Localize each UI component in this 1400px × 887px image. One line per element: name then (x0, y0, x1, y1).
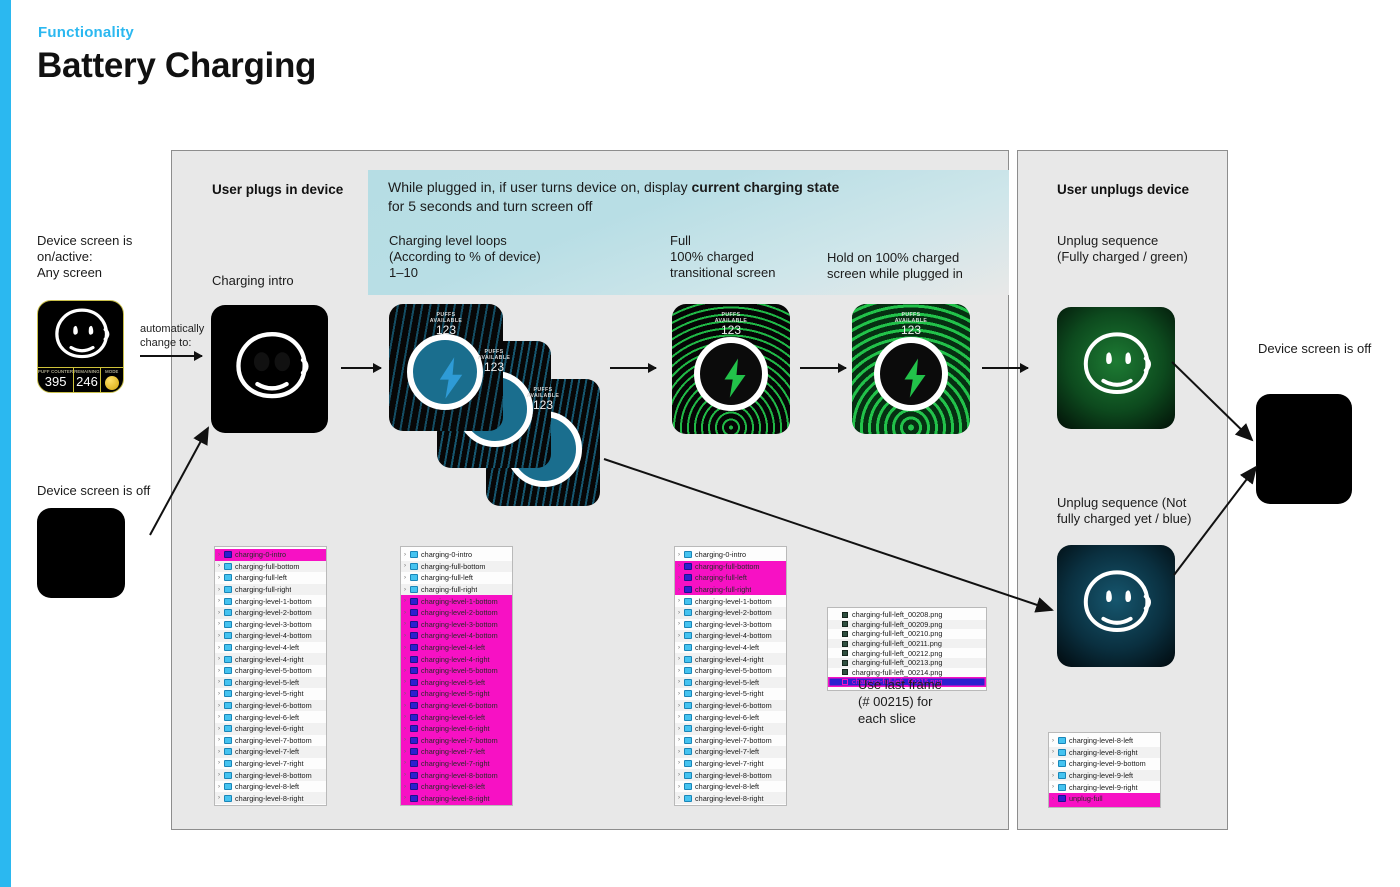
folder-icon (1058, 772, 1066, 779)
list-item[interactable]: ›charging-level-6-left (215, 711, 326, 723)
device-hold-charged: PUFFS AVAILABLE 123 (852, 304, 970, 434)
folder-icon (224, 783, 232, 790)
list-item[interactable]: ›charging-level-4-bottom (401, 630, 512, 642)
list-item[interactable]: ›charging-full-bottom (215, 561, 326, 573)
list-item-label: charging-level-7-left (235, 747, 299, 756)
folder-icon (410, 690, 418, 697)
list-item-label: charging-level-2-bottom (421, 608, 498, 617)
device-face-icon (49, 305, 115, 363)
list-item-label: charging-full-left (695, 573, 747, 582)
label-unplug-green: Unplug sequence (Fully charged / green) (1057, 233, 1188, 265)
folder-icon (224, 714, 232, 721)
puffs-available-label: PUFFS AVAILABLE 123 (672, 312, 790, 337)
list-item[interactable]: ›charging-level-3-bottom (215, 619, 326, 631)
list-item[interactable]: ›charging-level-7-bottom (215, 735, 326, 747)
folder-icon (684, 795, 692, 802)
list-item[interactable]: ›charging-level-8-left (215, 781, 326, 793)
list-item-label: charging-level-9-right (1069, 783, 1138, 792)
list-item[interactable]: ›charging-level-8-bottom (215, 769, 326, 781)
folder-icon (224, 690, 232, 697)
list-item[interactable]: ›charging-level-8-left (401, 781, 512, 793)
list-item-label: charging-level-8-left (421, 782, 485, 791)
list-item-label: charging-level-8-bottom (235, 771, 312, 780)
image-file-icon (842, 641, 848, 647)
device-unplug-blue (1057, 545, 1175, 667)
folder-icon (224, 621, 232, 628)
folder-icon (684, 737, 692, 744)
list-item-label: charging-level-5-right (695, 689, 764, 698)
list-item-label: charging-full-right (695, 585, 751, 594)
folder-icon (224, 574, 232, 581)
list-item-label: charging-level-8-left (695, 782, 759, 791)
folder-icon (1058, 749, 1066, 756)
device-full-transitional: PUFFS AVAILABLE 123 (672, 304, 790, 434)
list-item[interactable]: ›charging-level-6-right (401, 723, 512, 735)
folder-icon (224, 795, 232, 802)
list-item[interactable]: charging-full-left_00209.png (828, 620, 986, 630)
list-item-label: charging-level-3-bottom (695, 620, 772, 629)
list-item[interactable]: ›charging-level-7-bottom (401, 735, 512, 747)
list-item[interactable]: ›charging-level-5-bottom (675, 665, 786, 677)
list-item-label: charging-level-5-left (695, 678, 759, 687)
list-item[interactable]: ›charging-level-8-bottom (675, 769, 786, 781)
list-item[interactable]: ›charging-level-1-bottom (675, 595, 786, 607)
list-item[interactable]: charging-full-left_00213.png (828, 658, 986, 668)
list-item[interactable]: ›charging-level-4-left (215, 642, 326, 654)
folder-icon (410, 621, 418, 628)
folder-icon (684, 667, 692, 674)
list-item[interactable]: ›charging-level-5-left (215, 677, 326, 689)
list-item[interactable]: ›charging-full-left (215, 572, 326, 584)
list-item-label: charging-0-intro (695, 550, 746, 559)
list-item-label: charging-level-7-left (421, 747, 485, 756)
list-item-label: charging-level-4-right (695, 655, 764, 664)
list-item-label: charging-level-2-bottom (235, 608, 312, 617)
list-item[interactable]: ›charging-level-7-right (675, 758, 786, 770)
list-item-label: charging-level-5-bottom (421, 666, 498, 675)
folder-icon (684, 551, 692, 558)
folder-icon (684, 760, 692, 767)
list-item[interactable]: ›charging-level-4-left (401, 642, 512, 654)
arrow-hold-to-unplug (982, 367, 1028, 369)
arrow-active-to-intro (140, 355, 202, 357)
list-item-label: charging-level-4-bottom (235, 631, 312, 640)
list-item[interactable]: ›charging-level-9-bottom (675, 804, 786, 806)
list-item-label: charging-level-7-left (695, 747, 759, 756)
device-face-icon (1077, 325, 1157, 403)
folder-icon (224, 644, 232, 651)
disclosure-triangle-icon[interactable]: › (404, 805, 410, 806)
list-item[interactable]: ›charging-level-6-bottom (401, 700, 512, 712)
folder-icon (410, 667, 418, 674)
page-title: Battery Charging (37, 46, 316, 86)
folder-icon (224, 598, 232, 605)
puffs-available-label: PUFFS AVAILABLE 123 (437, 349, 551, 374)
list-item[interactable]: ›charging-level-5-bottom (401, 665, 512, 677)
list-item[interactable]: ›charging-level-8-right (215, 792, 326, 804)
device-stat-bar: PUFF COUNTER 395 REMAINING 246 MODE (38, 367, 123, 392)
lightning-bolt-icon (720, 355, 750, 401)
folder-icon (1058, 784, 1066, 791)
list-item[interactable]: ›charging-level-5-right (215, 688, 326, 700)
folder-icon (684, 725, 692, 732)
folder-icon (410, 679, 418, 686)
image-file-icon (842, 669, 848, 675)
list-item[interactable]: ›unplug-full (1049, 793, 1160, 805)
label-screen-off-right: Device screen is off (1258, 341, 1371, 357)
list-item-label: charging-level-9-left (1069, 771, 1133, 780)
note-screen-on-active: Device screen is on/active: Any screen (37, 233, 167, 281)
list-item-label: charging-0-intro (421, 550, 472, 559)
puffs-available-label: PUFFS AVAILABLE 123 (852, 312, 970, 337)
folder-icon (224, 586, 232, 593)
list-item-label: charging-level-7-right (695, 759, 764, 768)
stat-remaining: REMAINING 246 (74, 368, 101, 392)
list-item[interactable]: ›charging-level-6-right (675, 723, 786, 735)
folder-icon (410, 644, 418, 651)
head-user-unplugs: User unplugs device (1057, 182, 1189, 197)
list-item[interactable]: ›charging-full-left (675, 572, 786, 584)
list-item-label: charging-full-left (421, 573, 473, 582)
list-item[interactable]: ›charging-level-8-left (1049, 735, 1160, 747)
folder-icon (684, 586, 692, 593)
list-item-label: charging-level-3-bottom (235, 620, 312, 629)
folder-icon (684, 574, 692, 581)
list-item-label: charging-level-9-bottom (695, 805, 772, 806)
list-item[interactable]: ›charging-full-right (675, 584, 786, 596)
folder-icon (684, 609, 692, 616)
list-item[interactable]: ›charging-full-right (401, 584, 512, 596)
list-item-label: charging-level-4-left (421, 643, 485, 652)
folder-icon (224, 656, 232, 663)
list-item[interactable]: ›charging-level-1-bottom (401, 595, 512, 607)
list-item-label: charging-level-7-bottom (695, 736, 772, 745)
folder-icon (224, 702, 232, 709)
list-item-label: charging-level-5-bottom (235, 666, 312, 675)
list-item-label: charging-level-4-bottom (421, 631, 498, 640)
folder-icon (224, 679, 232, 686)
banner-text: While plugged in, if user turns device o… (388, 178, 908, 216)
device-unplug-green (1057, 307, 1175, 429)
list-item-label: unplug-notfull (1069, 806, 1113, 808)
list-item-label: charging-level-4-bottom (695, 631, 772, 640)
list-item-label: charging-full-left_00211.png (852, 639, 942, 648)
list-item-label: charging-full-bottom (421, 562, 486, 571)
list-item[interactable]: ›charging-level-5-right (675, 688, 786, 700)
folder-icon (1058, 807, 1066, 808)
list-item[interactable]: ›charging-level-4-bottom (215, 630, 326, 642)
list-item-label: charging-level-1-bottom (421, 597, 498, 606)
list-item-label: charging-level-6-bottom (421, 701, 498, 710)
note-use-last-frame: Use last frame (# 00215) for each slice (858, 676, 942, 727)
list-item-label: charging-level-6-left (421, 713, 485, 722)
list-item-label: charging-level-5-left (421, 678, 485, 687)
charge-ring (694, 337, 768, 411)
list-item-label: charging-level-6-right (695, 724, 764, 733)
list-item[interactable]: ›unplug-notfull (1049, 805, 1160, 808)
label-charging-level-loops: Charging level loops (According to % of … (389, 233, 541, 281)
list-item-label: charging-level-9-bottom (235, 805, 312, 806)
list-item-label: charging-level-1-bottom (695, 597, 772, 606)
list-item-label: charging-level-6-left (695, 713, 759, 722)
label-charging-intro: Charging intro (212, 273, 294, 289)
list-item[interactable]: ›charging-level-6-left (675, 711, 786, 723)
folder-icon (684, 772, 692, 779)
list-item[interactable]: ›charging-level-3-bottom (401, 619, 512, 631)
list-item[interactable]: charging-full-left_00210.png (828, 629, 986, 639)
list-item[interactable]: ›charging-level-7-right (401, 758, 512, 770)
folder-icon (410, 609, 418, 616)
list-item-label: charging-level-6-left (235, 713, 299, 722)
folder-icon (684, 690, 692, 697)
list-item[interactable]: ›charging-full-right (215, 584, 326, 596)
list-item-label: charging-level-8-bottom (695, 771, 772, 780)
list-item[interactable]: ›charging-level-9-right (1049, 781, 1160, 793)
folder-icon (224, 760, 232, 767)
folder-icon (684, 644, 692, 651)
list-item-label: charging-level-7-bottom (421, 736, 498, 745)
label-hold-charged: Hold on 100% charged screen while plugge… (827, 250, 963, 282)
list-item[interactable]: ›charging-0-intro (215, 549, 326, 561)
list-item-label: charging-level-5-left (235, 678, 299, 687)
list-item[interactable]: ›charging-level-6-right (215, 723, 326, 735)
folder-icon (410, 760, 418, 767)
list-item[interactable]: ›charging-level-3-bottom (675, 619, 786, 631)
folder-icon (410, 737, 418, 744)
device-screen-active: PUFF COUNTER 395 REMAINING 246 MODE (37, 300, 124, 393)
list-item[interactable]: ›charging-level-9-bottom (401, 804, 512, 806)
label-full-transitional: Full 100% charged transitional screen (670, 233, 776, 281)
list-item[interactable]: ›charging-0-intro (675, 549, 786, 561)
folder-icon (410, 656, 418, 663)
folder-icon (224, 748, 232, 755)
filelist-unplug[interactable]: ›charging-level-8-left›charging-level-8-… (1048, 732, 1161, 808)
stat-mode: MODE (101, 368, 123, 392)
list-item-label: charging-level-3-bottom (421, 620, 498, 629)
image-file-icon (842, 660, 848, 666)
list-item[interactable]: ›charging-level-8-right (401, 792, 512, 804)
arrow-blue-to-off (1170, 455, 1270, 595)
list-item-label: charging-full-left_00208.png (852, 610, 942, 619)
list-item[interactable]: ›charging-level-7-right (215, 758, 326, 770)
folder-icon (410, 598, 418, 605)
list-item-label: charging-level-7-right (235, 759, 304, 768)
folder-icon (224, 632, 232, 639)
filelist-levels[interactable]: ›charging-0-intro›charging-full-bottom›c… (400, 546, 513, 806)
list-item[interactable]: ›charging-level-8-bottom (401, 769, 512, 781)
list-item-label: charging-level-4-left (235, 643, 299, 652)
list-item[interactable]: ›charging-full-left (401, 572, 512, 584)
list-item-label: charging-level-8-left (235, 782, 299, 791)
list-item[interactable]: ›charging-level-7-left (401, 746, 512, 758)
filelist-full[interactable]: ›charging-0-intro›charging-full-bottom›c… (674, 546, 787, 806)
list-item[interactable]: ›charging-level-8-right (675, 792, 786, 804)
list-item-label: charging-level-9-bottom (1069, 759, 1146, 768)
stat-puff-counter: PUFF COUNTER 395 (38, 368, 74, 392)
device-face-icon (229, 325, 315, 407)
list-item[interactable]: ›charging-level-6-bottom (215, 700, 326, 712)
folder-icon (410, 748, 418, 755)
list-item[interactable]: charging-full-left_00212.png (828, 648, 986, 658)
image-file-icon (842, 650, 848, 656)
charge-ring (874, 337, 948, 411)
folder-icon (410, 586, 418, 593)
folder-icon (1058, 737, 1066, 744)
disclosure-triangle-icon[interactable]: › (218, 805, 224, 806)
list-item-label: charging-level-8-right (421, 794, 490, 803)
left-accent-bar (0, 0, 11, 887)
folder-icon (684, 656, 692, 663)
list-item-label: charging-full-right (421, 585, 477, 594)
folder-icon (684, 714, 692, 721)
list-item[interactable]: ›charging-level-7-bottom (675, 735, 786, 747)
folder-icon (410, 563, 418, 570)
list-item-label: charging-full-left_00213.png (852, 658, 942, 667)
list-item[interactable]: ›charging-0-intro (401, 549, 512, 561)
arrow-levels-to-unplug-blue (600, 455, 1070, 625)
folder-icon (224, 667, 232, 674)
list-item[interactable]: ›charging-level-8-left (675, 781, 786, 793)
device-charging-intro (211, 305, 328, 433)
list-item-label: charging-level-6-bottom (695, 701, 772, 710)
folder-icon (224, 551, 232, 558)
list-item-label: charging-full-left (235, 573, 287, 582)
list-item-label: charging-level-7-bottom (235, 736, 312, 745)
folder-icon (410, 632, 418, 639)
folder-icon (684, 632, 692, 639)
list-item[interactable]: ›charging-level-5-left (401, 677, 512, 689)
list-item[interactable]: ›charging-level-4-right (675, 653, 786, 665)
list-item[interactable]: ›charging-level-7-left (215, 746, 326, 758)
puffs-available-label: PUFFS AVAILABLE 123 (389, 312, 503, 337)
list-item-label: charging-level-7-right (421, 759, 490, 768)
list-item-label: charging-full-bottom (235, 562, 300, 571)
folder-icon (410, 574, 418, 581)
folder-icon (684, 748, 692, 755)
list-item-label: charging-full-right (235, 585, 291, 594)
folder-icon (684, 598, 692, 605)
list-item-label: charging-level-2-bottom (695, 608, 772, 617)
folder-icon (410, 551, 418, 558)
list-item[interactable]: ›charging-level-1-bottom (215, 595, 326, 607)
list-item[interactable]: ›charging-level-4-right (215, 653, 326, 665)
list-item-label: charging-level-6-right (421, 724, 490, 733)
folder-icon (410, 702, 418, 709)
arrow-levels-to-full (610, 367, 656, 369)
folder-icon (684, 679, 692, 686)
list-item[interactable]: ›charging-full-bottom (675, 561, 786, 573)
folder-icon (684, 702, 692, 709)
lightning-bolt-icon (900, 355, 930, 401)
list-item[interactable]: ›charging-full-bottom (401, 561, 512, 573)
device-face-icon (1077, 563, 1157, 641)
list-item[interactable]: ›charging-level-5-bottom (215, 665, 326, 677)
list-item[interactable]: ›charging-level-5-left (675, 677, 786, 689)
list-item[interactable]: ›charging-level-2-bottom (675, 607, 786, 619)
list-item-label: charging-level-4-left (695, 643, 759, 652)
eyebrow-label: Functionality (38, 24, 134, 41)
list-item-label: charging-level-4-right (421, 655, 490, 664)
list-item[interactable]: ›charging-level-9-left (1049, 770, 1160, 782)
list-item[interactable]: ›charging-level-8-right (1049, 747, 1160, 759)
folder-icon (224, 772, 232, 779)
list-item-label: charging-level-9-bottom (421, 805, 498, 806)
image-file-icon (842, 631, 848, 637)
list-item[interactable]: ›charging-level-7-left (675, 746, 786, 758)
list-item[interactable]: charging-full-left_00211.png (828, 639, 986, 649)
folder-icon (1058, 795, 1066, 802)
list-item-label: charging-level-8-right (695, 794, 764, 803)
list-item[interactable]: ›charging-level-2-bottom (215, 607, 326, 619)
list-item-label: charging-0-intro (235, 550, 286, 559)
list-item-label: charging-level-4-right (235, 655, 304, 664)
list-item[interactable]: ›charging-level-2-bottom (401, 607, 512, 619)
list-item-label: charging-full-left_00209.png (852, 620, 942, 629)
list-item-label: charging-level-6-right (235, 724, 304, 733)
list-item-label: charging-level-5-right (235, 689, 304, 698)
folder-icon (684, 783, 692, 790)
folder-icon (410, 783, 418, 790)
list-item-label: charging-level-5-right (421, 689, 490, 698)
list-item[interactable]: ›charging-level-4-bottom (675, 630, 786, 642)
puffs-available-label: PUFFS AVAILABLE 123 (486, 387, 600, 412)
list-item-label: charging-level-8-bottom (421, 771, 498, 780)
list-item[interactable]: ›charging-level-9-bottom (215, 804, 326, 806)
list-item-label: charging-level-8-right (1069, 748, 1138, 757)
list-item[interactable]: ›charging-level-4-left (675, 642, 786, 654)
folder-icon (1058, 760, 1066, 767)
list-item-label: unplug-full (1069, 794, 1103, 803)
device-screen-off-right (1256, 394, 1352, 504)
list-item[interactable]: ›charging-level-6-left (401, 711, 512, 723)
head-user-plugs-in: User plugs in device (212, 182, 343, 197)
list-item-label: charging-level-1-bottom (235, 597, 312, 606)
folder-icon (224, 737, 232, 744)
image-file-icon (842, 612, 848, 618)
list-item[interactable]: ›charging-level-4-right (401, 653, 512, 665)
list-item-label: charging-full-left_00210.png (852, 629, 942, 638)
list-item-label: charging-level-5-bottom (695, 666, 772, 675)
filelist-intro[interactable]: ›charging-0-intro›charging-full-bottom›c… (214, 546, 327, 806)
disclosure-triangle-icon[interactable]: › (678, 805, 684, 806)
folder-icon (684, 563, 692, 570)
device-screen-off-left (37, 508, 125, 598)
list-item[interactable]: ›charging-level-6-bottom (675, 700, 786, 712)
list-item[interactable]: charging-full-left_00208.png (828, 610, 986, 620)
page-root: Functionality Battery Charging Device sc… (0, 0, 1400, 887)
image-file-icon (842, 679, 848, 685)
list-item-label: charging-full-bottom (695, 562, 760, 571)
folder-icon (410, 714, 418, 721)
folder-icon (410, 795, 418, 802)
list-item[interactable]: ›charging-level-5-right (401, 688, 512, 700)
mode-indicator-icon (105, 376, 119, 390)
list-item-label: charging-full-left_00212.png (852, 649, 942, 658)
list-item-label: charging-level-6-bottom (235, 701, 312, 710)
note-automatically-change-to: automatically change to: (140, 322, 210, 350)
list-item[interactable]: ›charging-level-9-bottom (1049, 758, 1160, 770)
folder-icon (410, 772, 418, 779)
arrow-off-to-intro (120, 420, 220, 540)
folder-icon (224, 609, 232, 616)
list-item-label: charging-level-8-right (235, 794, 304, 803)
folder-icon (224, 563, 232, 570)
folder-icon (684, 621, 692, 628)
folder-icon (410, 725, 418, 732)
arrow-full-to-hold (800, 367, 846, 369)
list-item-label: charging-level-8-left (1069, 736, 1133, 745)
image-file-icon (842, 621, 848, 627)
